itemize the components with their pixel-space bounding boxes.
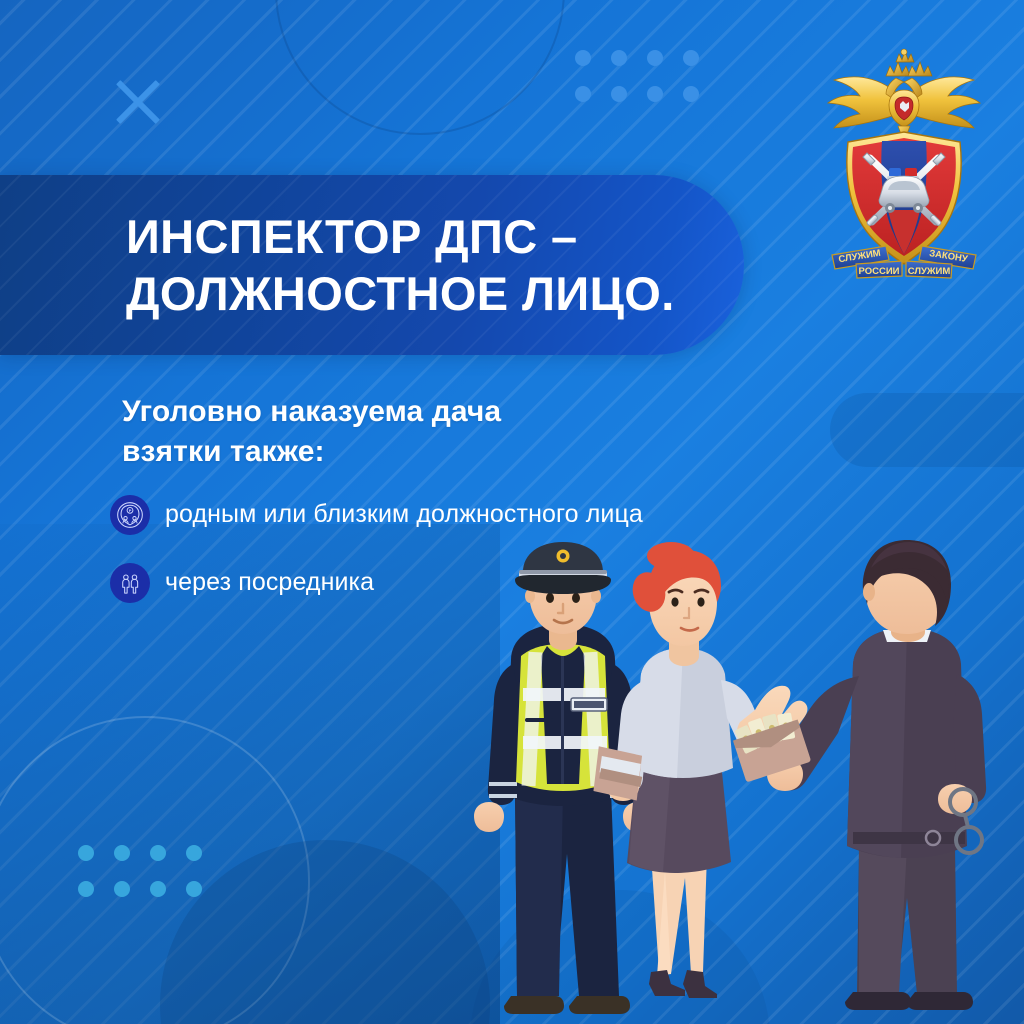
motto-bottom-right: СЛУЖИМ [908, 266, 951, 277]
title-banner: ИНСПЕКТОР ДПС – ДОЛЖНОСТНОЕ ЛИЦО. [0, 175, 744, 355]
police-shield-icon [847, 132, 961, 264]
decorative-pill-right [830, 393, 1024, 467]
family-shield-icon: Р [110, 495, 150, 535]
mvd-gibdd-emblem: СЛУЖИМ ЗАКОНУ РОССИИ СЛУЖИМ [812, 40, 996, 288]
dot-grid-top [575, 50, 699, 102]
police-cap-icon [515, 542, 611, 594]
decorative-circle-top [275, 0, 565, 135]
motto-bottom-left: РОССИИ [859, 266, 900, 277]
bullet-label: родным или близким должностного лица [165, 501, 643, 529]
list-item: Р родным или близким должностного лица [110, 495, 643, 535]
bullet-label: через посредника [165, 569, 374, 597]
svg-text:Р: Р [129, 508, 132, 513]
decorative-disc-bottom-left [160, 840, 490, 1024]
bribery-scene [455, 540, 1024, 1024]
poster-root: СЛУЖИМ ЗАКОНУ РОССИИ СЛУЖИМ ИНСПЕКТОР ДП… [0, 0, 1024, 1024]
dot-grid-bottom-left [78, 845, 202, 897]
two-people-icon [110, 563, 150, 603]
double-headed-eagle-icon [828, 49, 980, 142]
man-offering-bribe [729, 540, 986, 1010]
cross-mark-icon [110, 74, 166, 130]
page-title: ИНСПЕКТОР ДПС – ДОЛЖНОСТНОЕ ЛИЦО. [126, 208, 675, 323]
decorative-circle-bottom-left [0, 716, 310, 1024]
subtitle: Уголовно наказуема дача взятки также: [122, 392, 682, 472]
